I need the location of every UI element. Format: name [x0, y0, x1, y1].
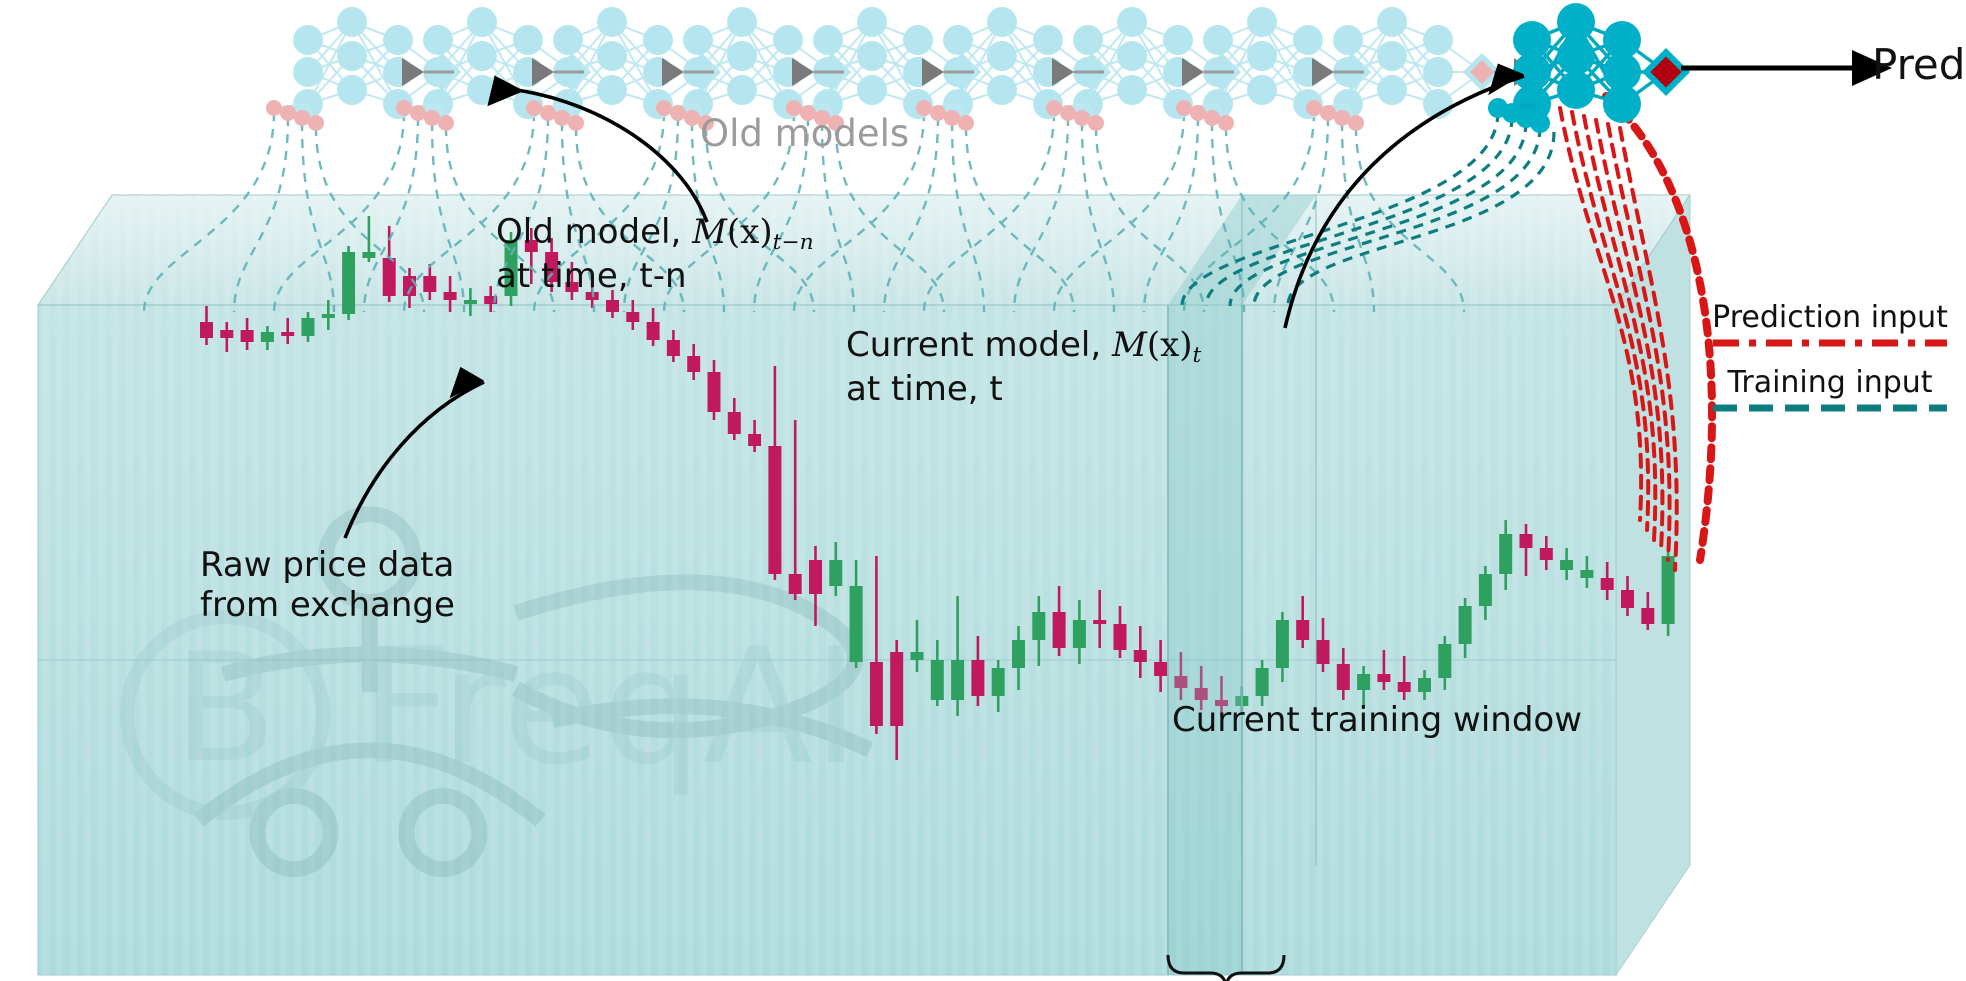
old-model-annotation: Old model, M(x)t−n at time, t-n	[496, 212, 814, 296]
current-model-math-m: M	[1112, 325, 1147, 365]
legend-item-training-input: Training input	[1700, 365, 1960, 414]
legend: Prediction input Training input	[1700, 300, 1960, 430]
raw-price-line1: Raw price data	[200, 545, 455, 585]
legend-label-prediction-input: Prediction input	[1700, 300, 1960, 335]
raw-price-arrowhead	[446, 365, 485, 399]
old-model-annotation-line2: at time, t-n	[496, 256, 814, 296]
diagram-canvas: B FreqAI	[0, 0, 1966, 981]
annotation-arrows-layer	[0, 0, 1966, 981]
neural-networks-layer	[0, 0, 1966, 981]
raw-price-arrow-path	[345, 382, 484, 538]
training-window-brace	[1168, 955, 1284, 981]
current-model-network	[1488, 3, 1686, 133]
current-model-math-subscript: t	[1193, 343, 1202, 368]
current-training-input-lines	[1182, 112, 1554, 306]
legend-item-prediction-input: Prediction input	[1700, 300, 1960, 349]
current-model-annotation-line1: Current model, M(x)t	[846, 325, 1201, 369]
old-model-math-m: M	[692, 212, 727, 252]
current-model-prefix: Current model,	[846, 325, 1112, 365]
current-model-annotation-line2: at time, t	[846, 369, 1201, 409]
current-model-annotation: Current model, M(x)t at time, t	[846, 325, 1201, 409]
prediction-arrow	[1681, 50, 1892, 86]
training-window-highlight	[1168, 195, 1316, 975]
raw-price-annotation: Raw price data from exchange	[200, 545, 455, 625]
old-model-annotation-line1: Old model, M(x)t−n	[496, 212, 814, 256]
legend-swatch-prediction-input	[1711, 337, 1949, 349]
current-model-arrow-path	[1285, 76, 1524, 328]
model-progress-arrows	[402, 58, 1536, 86]
legend-label-training-input: Training input	[1700, 365, 1960, 400]
chart-and-box-layer: B FreqAI	[0, 0, 1966, 981]
current-model-math-x: (x)	[1147, 325, 1193, 365]
candlestick-series	[200, 216, 1675, 760]
current-model-arrowhead	[1484, 60, 1526, 95]
raw-price-line2: from exchange	[200, 585, 455, 625]
training-window-label: Current training window	[1172, 700, 1582, 740]
old-model-prefix: Old model,	[496, 212, 692, 252]
old-models-label: Old models	[700, 112, 909, 156]
connection-lines-layer	[0, 0, 1966, 981]
prediction-label: Prediction	[1872, 40, 1966, 90]
legend-swatch-training-input	[1711, 402, 1949, 414]
old-model-math-x: (x)	[727, 212, 773, 252]
old-model-arrowhead	[485, 73, 525, 106]
svg-text:FreqAI: FreqAI	[360, 613, 859, 800]
svg-text:B: B	[174, 622, 277, 796]
old-model-arrow-path	[500, 88, 707, 222]
prediction-input-lines	[1560, 96, 1712, 570]
old-model-math-subscript: t−n	[773, 230, 814, 255]
